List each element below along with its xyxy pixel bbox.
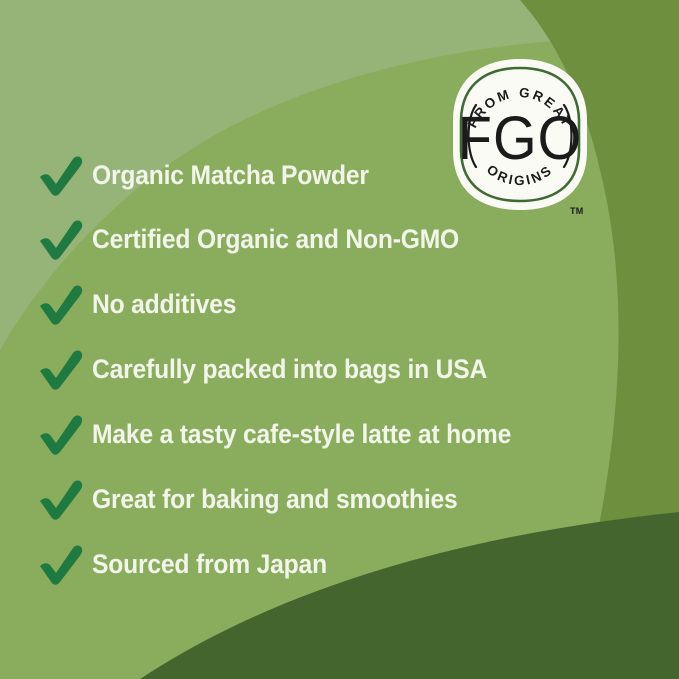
checkmark-icon	[36, 152, 92, 198]
badge-monogram: FGO	[458, 105, 583, 173]
feature-label: Organic Matcha Powder	[92, 160, 369, 190]
checkmark-icon	[36, 476, 92, 522]
checkmark-icon	[36, 281, 92, 327]
feature-label: Carefully packed into bags in USA	[92, 354, 487, 384]
feature-label: Sourced from Japan	[92, 549, 327, 579]
feature-label: Great for baking and smoothies	[92, 484, 458, 514]
checkmark-icon	[36, 216, 92, 262]
list-item: No additives	[36, 281, 247, 327]
feature-label: Make a tasty cafe-style latte at home	[92, 419, 511, 449]
list-item: Great for baking and smoothies	[36, 476, 485, 522]
feature-label: Certified Organic and Non-GMO	[92, 224, 459, 254]
list-item: Sourced from Japan	[36, 541, 345, 587]
checkmark-icon	[36, 411, 92, 457]
trademark-symbol: TM	[570, 206, 584, 216]
list-item: Organic Matcha Powder	[36, 152, 390, 198]
checkmark-icon	[36, 541, 92, 587]
fgo-brand-logo: FROM GREAT ORIGINS FGO	[450, 57, 590, 212]
checkmark-icon	[36, 346, 92, 392]
list-item: Certified Organic and Non-GMO	[36, 216, 487, 262]
feature-label: No additives	[92, 289, 236, 319]
list-item: Make a tasty cafe-style latte at home	[36, 411, 543, 457]
product-feature-graphic: Organic Matcha Powder Certified Organic …	[0, 0, 679, 679]
list-item: Carefully packed into bags in USA	[36, 346, 517, 392]
